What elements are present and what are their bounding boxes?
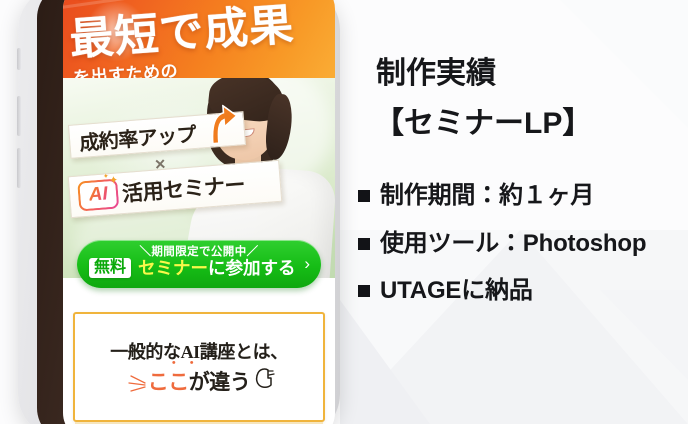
hero-headline: 最短で成果 [67,0,296,68]
emphasis-lines-icon [121,372,147,394]
bullet-square-icon [358,285,370,297]
emphasis-dots: •• [172,357,208,369]
list-item-label: 制作期間：約１ヶ月 [380,182,594,210]
banner-1-label: 成約率アップ [78,117,197,155]
cta-main-yellow: セミナー [138,258,208,278]
list-item-label: 使用ツール：Photoshop [380,230,646,258]
screenshot-stage: 駆け出しでも 最短で成果 を出すための [0,0,688,424]
card-line-2-highlight: ここ [148,370,189,394]
bullet-square-icon [358,190,370,202]
panel-title-line-2: 【セミナーLP】 [374,98,592,142]
phone-screen: 駆け出しでも 最短で成果 を出すための [63,0,335,424]
mute-switch-button[interactable] [17,48,21,70]
ai-chip-label: AI [88,183,109,206]
cta-main-white: に参加する [208,258,296,278]
volume-down-button[interactable] [17,148,21,188]
list-item: 使用ツール：Photoshop [358,230,688,258]
pointing-hand-icon [251,366,279,392]
landing-page-content: 駆け出しでも 最短で成果 を出すための [63,0,335,118]
phone-mockup: 駆け出しでも 最短で成果 を出すための [18,0,340,424]
card-line-2: ••ここが違う [75,366,323,396]
ai-chip-icon: AI ✦ ✦ [77,179,119,212]
info-panel: 制作実績 【セミナーLP】 制作期間：約１ヶ月 使用ツール：Photoshop … [352,0,688,424]
volume-up-button[interactable] [17,96,21,136]
banner-2-label: 活用セミナー [121,169,246,209]
chevron-right-icon: › [304,255,310,272]
phone-bezel: 駆け出しでも 最短で成果 を出すための [37,0,323,424]
card-line-2-rest: が違う [189,370,251,394]
arrow-up-icon [204,104,241,147]
sparkle-icon: ✦ [103,172,109,180]
bullet-square-icon [358,238,370,250]
list-item: UTAGEに納品 [358,277,688,305]
free-badge: 無料 [89,258,131,278]
panel-title-line-1: 制作実績 [376,48,496,92]
cta-main-label: セミナーに参加する [138,259,296,278]
list-item-label: UTAGEに納品 [380,277,533,305]
cta-join-seminar-button[interactable]: ＼期間限定で公開中／ 無料 セミナーに参加する › [77,240,321,288]
spec-list: 制作期間：約１ヶ月 使用ツール：Photoshop UTAGEに納品 [358,182,688,325]
sparkle-icon: ✦ [108,173,118,187]
difference-card: 一般的なAI講座とは、 ••ここが違う [73,312,325,422]
list-item: 制作期間：約１ヶ月 [358,182,688,210]
cta-row: 無料 セミナーに参加する [89,258,311,278]
